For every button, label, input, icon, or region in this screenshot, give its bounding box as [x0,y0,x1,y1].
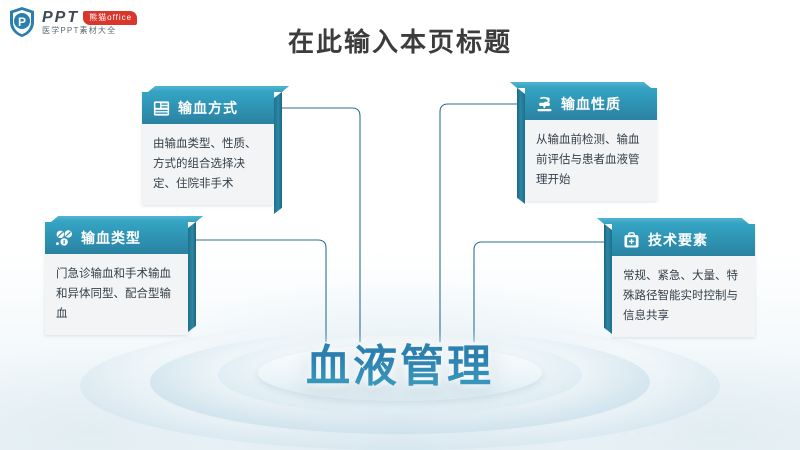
slide-canvas: P PPT 熊猫office 医学PPT素材大全 在此输入本页标题 [0,0,800,450]
card-body: 技术要素 常规、紧急、大量、特殊路径智能实时控制与信息共享 [612,224,755,337]
card-title: 输血类型 [81,228,141,248]
card-edge-side [274,92,282,214]
medical-kit-icon [622,231,641,250]
info-card-transfusion-type[interactable]: 输血类型 门急诊输血和手术输血和异体同型、配合型输血 [45,222,188,335]
watermark: w w w . p p t e r . c o m [621,428,788,438]
card-title: 技术要素 [648,230,708,250]
card-edge-side [604,224,612,334]
card-header[interactable]: 技术要素 [612,224,755,256]
card-title: 输血性质 [561,94,621,114]
info-card-technical-elements[interactable]: 技术要素 常规、紧急、大量、特殊路径智能实时控制与信息共享 [612,224,755,337]
card-edge-side [517,88,525,204]
microscope-icon [535,95,554,114]
card-body: 输血性质 从输血前检测、输血前评估与患者血液管理开始 [525,88,657,201]
center-label: 血液管理 [0,330,800,394]
card-header[interactable]: 输血性质 [525,88,657,120]
card-text: 常规、紧急、大量、特殊路径智能实时控制与信息共享 [612,256,755,337]
card-text: 由输血类型、性质、方式的组合选择决定、住院非手术 [142,124,274,205]
card-text: 门急诊输血和手术输血和异体同型、配合型输血 [45,254,188,335]
card-text: 从输血前检测、输血前评估与患者血液管理开始 [525,120,657,201]
card-body: 输血方式 由输血类型、性质、方式的组合选择决定、住院非手术 [142,92,274,205]
info-card-transfusion-method[interactable]: 输血方式 由输血类型、性质、方式的组合选择决定、住院非手术 [142,92,274,205]
card-body: 输血类型 门急诊输血和手术输血和异体同型、配合型输血 [45,222,188,335]
card-header[interactable]: 输血类型 [45,222,188,254]
card-title: 输血方式 [178,98,238,118]
card-header[interactable]: 输血方式 [142,92,274,124]
document-list-icon [152,99,171,118]
card-edge-side [188,222,196,332]
pills-icon [55,229,74,248]
info-card-transfusion-nature[interactable]: 输血性质 从输血前检测、输血前评估与患者血液管理开始 [525,88,657,201]
